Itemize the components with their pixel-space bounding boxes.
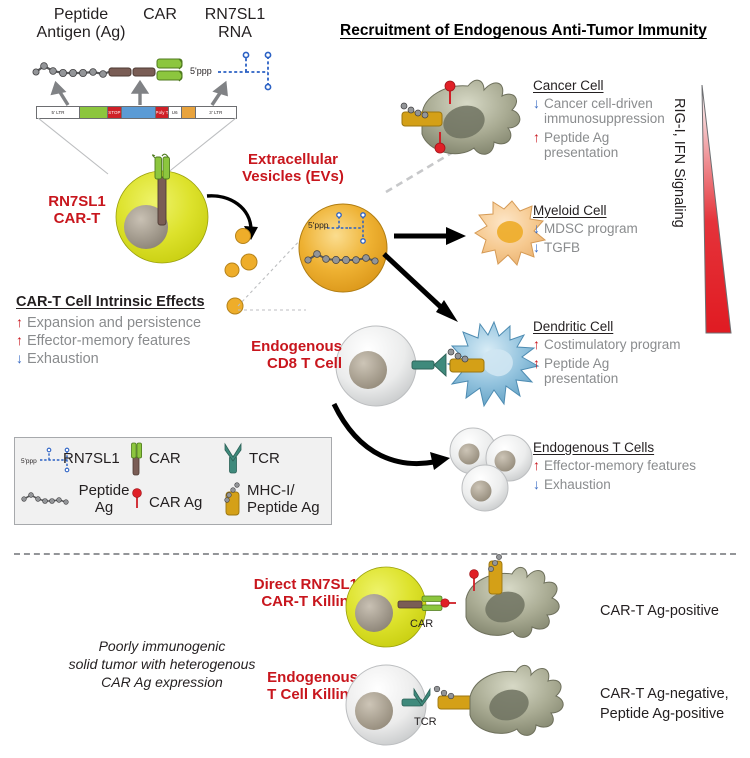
rig-i-signaling-gradient xyxy=(700,85,734,335)
car-t-intrinsic-effects-panel: CAR-T Cell Intrinsic Effects ↑ Expansion… xyxy=(16,294,276,368)
construct-seg-0: 5' LTR xyxy=(37,107,80,118)
cancer-item0-l2: immunosuppression xyxy=(544,111,665,126)
legend-label-peptide: Peptide Ag xyxy=(73,483,135,517)
myeloid-item1-l1: TGFB xyxy=(544,240,580,255)
intrinsic-effects-item-0: ↑ Expansion and persistence xyxy=(16,315,276,331)
endog-killing-l1: Endogenous xyxy=(228,670,358,687)
endogenous-t-cells-panel: Endogenous T Cells ↑ Effector-memory fea… xyxy=(533,440,723,492)
rn7sl1-line2: RNA xyxy=(180,24,290,42)
legend-box: 5'ppp RN7SL1 CAR xyxy=(14,437,332,525)
direct-killing-l1: Direct RN7SL1 xyxy=(228,577,358,594)
svg-text:5'ppp: 5'ppp xyxy=(21,458,37,465)
cancer-cell-graphic xyxy=(398,70,528,170)
bottom-row-1-outcome: CAR-T Ag-negative, Peptide Ag-positive xyxy=(600,685,750,724)
svg-text:CAR: CAR xyxy=(410,618,433,630)
construct-seg-1 xyxy=(80,107,108,118)
up-arrow-icon: ↑ xyxy=(533,337,540,352)
endogenous-t-cells-item-0: ↑ Effector-memory features xyxy=(533,458,723,473)
ev-ppp-label: 5'ppp xyxy=(308,220,329,230)
ev-line1: Extracellular xyxy=(218,152,368,169)
rig-i-axis-label: RIG-I, IFN Signaling xyxy=(670,98,688,318)
extracellular-vesicle-zoom xyxy=(293,198,393,298)
legend-label-tcr: TCR xyxy=(249,449,280,469)
up-arrow-icon: ↑ xyxy=(16,315,23,330)
legend-icon-car-ag xyxy=(130,488,144,510)
label-rn7sl1-car-t: RN7SL1 CAR-T xyxy=(46,194,108,228)
label-rn7sl1-rna: RN7SL1 RNA xyxy=(180,6,290,41)
construct-seg-3 xyxy=(122,107,156,118)
down-arrow-icon: ↓ xyxy=(533,221,540,236)
bottom-row-0-graphic: CAR xyxy=(358,555,598,655)
construct-seg-polyt: Poly T xyxy=(156,107,168,118)
construct-product-arrows xyxy=(30,82,260,106)
endogenous-t-cells-item-1: ↓ Exhaustion xyxy=(533,477,723,492)
legend-label-car: CAR xyxy=(149,449,181,469)
legend-icon-car xyxy=(128,442,144,476)
intrinsic-effects-item-2: ↓ Exhaustion xyxy=(16,351,276,367)
page-title: Recruitment of Endogenous Anti-Tumor Imm… xyxy=(340,22,707,40)
up-arrow-icon: ↑ xyxy=(533,356,540,371)
bottom-row-0-outcome: CAR-T Ag-positive xyxy=(600,602,750,621)
down-arrow-icon: ↓ xyxy=(533,96,540,111)
rn7sl1-car-t-line1: RN7SL1 xyxy=(46,194,108,211)
legend-icon-peptide xyxy=(20,490,74,508)
label-direct-car-t-killing: Direct RN7SL1 CAR-T Killing xyxy=(228,577,358,611)
cancer-item1-l2: presentation xyxy=(544,145,618,160)
up-arrow-icon: ↑ xyxy=(533,458,540,473)
label-extracellular-vesicles: Extracellular Vesicles (EVs) xyxy=(218,152,368,186)
down-arrow-icon: ↓ xyxy=(533,240,540,255)
intrinsic-item0: Expansion and persistence xyxy=(27,315,201,331)
direct-killing-l2: CAR-T Killing xyxy=(228,594,358,611)
legend-mhc-l2: Peptide Ag xyxy=(247,500,320,517)
intrinsic-effects-header: CAR-T Cell Intrinsic Effects xyxy=(16,294,276,310)
intrinsic-effects-item-1: ↑ Effector-memory features xyxy=(16,333,276,349)
legend-label-rn7sl1: RN7SL1 xyxy=(63,449,120,469)
dc-item0-l1: Costimulatory program xyxy=(544,337,681,352)
figure-root: Peptide Antigen (Ag) CAR RN7SL1 RNA xyxy=(0,0,750,758)
label-endogenous-t-cell-killing: Endogenous T Cell Killing xyxy=(228,670,358,704)
bottom-row-1-graphic: TCR xyxy=(358,655,598,755)
legend-label-car-ag: CAR Ag xyxy=(149,493,202,513)
dc-item1-l2: presentation xyxy=(544,371,618,386)
endogenous-t-cells-header: Endogenous T Cells xyxy=(533,440,723,455)
up-arrow-icon: ↑ xyxy=(533,130,540,145)
outcome0-l1: CAR-T Ag-positive xyxy=(600,602,750,621)
endogenous-cd8-t-cell-graphic xyxy=(332,318,462,418)
rn7sl1-line1: RN7SL1 xyxy=(180,6,290,24)
intrinsic-item2: Exhaustion xyxy=(27,351,99,367)
ev-line2: Vesicles (EVs) xyxy=(218,169,368,186)
bottom-note-l1: Poorly immunogenic xyxy=(22,637,302,655)
down-arrow-icon: ↓ xyxy=(533,477,540,492)
dc-item1-l1: Peptide Ag xyxy=(544,356,609,371)
cancer-item1-l1: Peptide Ag xyxy=(544,130,609,145)
dendritic-cell-item-1: ↑ Peptide Ag presentation xyxy=(533,356,713,386)
dendritic-cell-item-0: ↑ Costimulatory program xyxy=(533,337,713,352)
cancer-cell-header: Cancer Cell xyxy=(533,78,703,93)
construct-seg-u6: U6 xyxy=(169,107,182,118)
endog-killing-l2: T Cell Killing xyxy=(228,687,358,704)
rig-i-axis-text: RIG-I, IFN Signaling xyxy=(671,98,687,228)
ppp-label: 5'ppp xyxy=(190,66,212,76)
outcome1-l2: Peptide Ag-positive xyxy=(600,705,750,725)
vector-construct-bar: 5' LTR STOP Poly T U6 3' LTR xyxy=(36,106,237,119)
endogenous-t-cells-graphic xyxy=(443,425,539,515)
down-arrow-icon: ↓ xyxy=(16,351,23,366)
legend-peptide-l2: Ag xyxy=(73,500,135,517)
svg-text:TCR: TCR xyxy=(414,716,437,728)
ev-to-myeloid-arrow xyxy=(392,222,472,252)
cancer-item0-l1: Cancer cell-driven xyxy=(544,96,653,111)
legend-icon-mhc-peptide xyxy=(221,482,245,516)
intrinsic-item1: Effector-memory features xyxy=(27,333,190,349)
legend-mhc-l1: MHC-I/ xyxy=(247,483,320,500)
up-arrow-icon: ↑ xyxy=(16,333,23,348)
legend-label-mhc-peptide: MHC-I/ Peptide Ag xyxy=(247,483,320,517)
construct-seg-6 xyxy=(182,107,196,118)
tcr-receptor-icon xyxy=(412,354,446,376)
construct-seg-7: 3' LTR xyxy=(196,107,236,118)
myeloid-item0-l1: MDSC program xyxy=(544,221,638,236)
rn7sl1-car-t-line2: CAR-T xyxy=(46,211,108,228)
dendritic-cell-panel: Dendritic Cell ↑ Costimulatory program ↑… xyxy=(533,319,713,386)
peptide-antigen-line2: Antigen (Ag) xyxy=(16,24,146,42)
legend-icon-tcr xyxy=(223,442,243,474)
et-item0-l1: Effector-memory features xyxy=(544,458,696,473)
legend-peptide-l1: Peptide xyxy=(73,483,135,500)
dendritic-cell-header: Dendritic Cell xyxy=(533,319,713,334)
et-item1-l1: Exhaustion xyxy=(544,477,611,492)
construct-seg-stop: STOP xyxy=(108,107,123,118)
outcome1-l1: CAR-T Ag-negative, xyxy=(600,685,750,705)
